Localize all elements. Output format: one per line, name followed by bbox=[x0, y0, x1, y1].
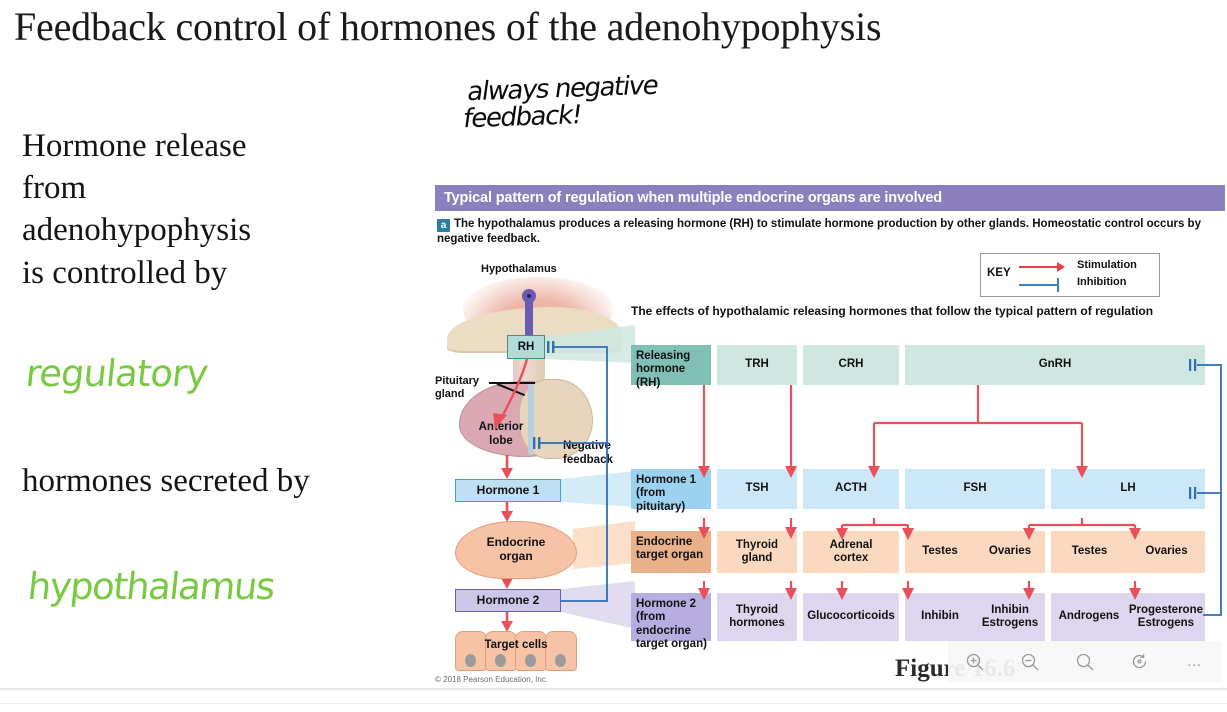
diagram-target-cells-label: Target cells bbox=[455, 639, 577, 651]
zoom-out-icon[interactable] bbox=[1013, 645, 1047, 679]
slide-canvas: Feedback control of hormones of the aden… bbox=[0, 0, 1227, 690]
cell-acth: ACTH bbox=[803, 469, 899, 509]
cell-inhibin-fsh: Inhibin bbox=[905, 610, 975, 623]
body-line-3: adenohypophysis bbox=[22, 209, 422, 251]
table-row-endocrine-target-organ: Endocrine target organ Thyroid gland Adr… bbox=[631, 531, 1205, 573]
target-cell bbox=[455, 631, 487, 671]
ink-annotation-always-negative-feedback: always negative feedback! bbox=[462, 73, 660, 134]
body-line-2: from bbox=[22, 167, 422, 209]
anterior-lobe-label: Anterior lobe bbox=[465, 421, 537, 448]
pdf-viewer-toolbar[interactable]: … bbox=[948, 641, 1222, 682]
figure-banner-title: Typical pattern of regulation when multi… bbox=[435, 185, 1225, 211]
hypothalamus-label: Hypothalamus bbox=[481, 263, 557, 275]
more-options-icon[interactable]: … bbox=[1178, 645, 1212, 679]
slide-bottom-edge bbox=[0, 688, 1227, 691]
search-icon[interactable] bbox=[1068, 645, 1102, 679]
diagram-endocrine-organ-shape: Endocrine organ bbox=[455, 521, 577, 579]
key-inhibition-label: Inhibition bbox=[1077, 276, 1126, 288]
slide-body-text-2: hormones secreted by bbox=[22, 460, 422, 502]
cell-progesterone-estrogens: Progesterone Estrogens bbox=[1127, 604, 1205, 630]
cell-ovaries-lh: Ovaries bbox=[1128, 545, 1205, 558]
cell-lh-targets: Testes Ovaries bbox=[1051, 531, 1205, 573]
cell-tsh: TSH bbox=[717, 469, 797, 509]
row-label-hormone-2: Hormone 2 (from endocrine target organ) bbox=[631, 593, 711, 641]
table-row-hormone-1: Hormone 1 (from pituitary) TSH ACTH FSH … bbox=[631, 469, 1205, 509]
body-line-4: is controlled by bbox=[22, 252, 422, 294]
cell-ovaries-fsh: Ovaries bbox=[975, 545, 1045, 558]
table-gap-3 bbox=[631, 573, 1205, 593]
cell-lh: LH bbox=[1051, 469, 1205, 509]
negative-feedback-label: Negative feedback bbox=[563, 440, 637, 467]
row-label-hormone-1: Hormone 1 (from pituitary) bbox=[631, 469, 711, 509]
cell-nucleus-icon bbox=[555, 654, 566, 667]
table-gap-2 bbox=[631, 509, 1205, 531]
pituitary-gland-label: Pituitary gland bbox=[435, 375, 479, 401]
cell-glucocorticoids: Glucocorticoids bbox=[803, 593, 899, 641]
cell-fsh: FSH bbox=[905, 469, 1045, 509]
rotate-icon[interactable] bbox=[1123, 645, 1157, 679]
zoom-in-icon[interactable] bbox=[958, 645, 992, 679]
slide-body-text: Hormone release from adenohypophysis is … bbox=[22, 125, 422, 294]
copyright-notice: © 2018 Pearson Education, Inc. bbox=[435, 675, 548, 684]
key-stimulation-label: Stimulation bbox=[1077, 259, 1137, 271]
inhibition-line bbox=[1019, 284, 1059, 286]
table-heading: The effects of hypothalamic releasing ho… bbox=[631, 304, 1191, 320]
body-line-6: secreted by bbox=[160, 463, 309, 499]
cell-gnrh: GnRH bbox=[905, 345, 1205, 385]
inhibition-cap-icon bbox=[1057, 278, 1059, 292]
key-label: KEY bbox=[987, 267, 1011, 279]
cell-trh: TRH bbox=[717, 345, 797, 385]
part-a-description: The hypothalamus produces a releasing ho… bbox=[437, 218, 1201, 245]
row-label-releasing-hormone: Releasing hormone (RH) bbox=[631, 345, 711, 385]
part-badge-a: a bbox=[437, 219, 450, 232]
cell-lh-hormones: Androgens Progesterone Estrogens bbox=[1051, 593, 1205, 641]
neuron-cell-body-icon bbox=[522, 289, 536, 303]
target-cell bbox=[545, 631, 577, 671]
table-gap-1 bbox=[631, 385, 1205, 469]
target-cell bbox=[515, 631, 547, 671]
stimulation-arrow-icon bbox=[1057, 262, 1065, 272]
cell-adrenal-cortex: Adrenal cortex bbox=[803, 531, 899, 573]
diagram-hormone-2-box: Hormone 2 bbox=[455, 589, 561, 612]
diagram-rh-box: RH bbox=[507, 335, 545, 359]
cell-thyroid-gland: Thyroid gland bbox=[717, 531, 797, 573]
target-cell bbox=[485, 631, 517, 671]
figure-16-6: Typical pattern of regulation when multi… bbox=[435, 185, 1225, 680]
cell-fsh-hormones: Inhibin Inhibin Estrogens bbox=[905, 593, 1045, 641]
cell-testes-lh: Testes bbox=[1051, 545, 1128, 558]
stimulation-arrow-line bbox=[1019, 266, 1059, 268]
cell-crh: CRH bbox=[803, 345, 899, 385]
hormone-effects-table: Releasing hormone (RH) TRH CRH GnRH Horm… bbox=[631, 345, 1205, 641]
body-line-1: Hormone release bbox=[22, 125, 422, 167]
row-label-endocrine-target-organ: Endocrine target organ bbox=[631, 531, 711, 573]
cell-androgens: Androgens bbox=[1051, 610, 1127, 623]
diagram-hormone-1-box: Hormone 1 bbox=[455, 479, 561, 502]
body-line-5: hormones bbox=[22, 463, 152, 499]
cell-nucleus-icon bbox=[495, 654, 506, 667]
table-row-releasing-hormone: Releasing hormone (RH) TRH CRH GnRH bbox=[631, 345, 1205, 385]
cell-nucleus-icon bbox=[525, 654, 536, 667]
anatomy-diagram: Hypothalamus RH Pituitary gland Anterior… bbox=[435, 263, 635, 668]
page-title: Feedback control of hormones of the aden… bbox=[14, 6, 1219, 48]
cell-testes-fsh: Testes bbox=[905, 545, 975, 558]
ink-annotation-hypothalamus: hypothalamus bbox=[26, 565, 276, 608]
table-row-hormone-2: Hormone 2 (from endocrine target organ) … bbox=[631, 593, 1205, 641]
cell-thyroid-hormones: Thyroid hormones bbox=[717, 593, 797, 641]
ink-annotation-regulatory: regulatory bbox=[24, 352, 210, 395]
figure-part-a-text: aThe hypothalamus produces a releasing h… bbox=[437, 217, 1223, 248]
cell-nucleus-icon bbox=[465, 654, 476, 667]
figure-key-box: KEY Stimulation Inhibition bbox=[980, 253, 1160, 297]
cell-fsh-targets: Testes Ovaries bbox=[905, 531, 1045, 573]
cell-inhibin-estrogens: Inhibin Estrogens bbox=[975, 604, 1045, 630]
